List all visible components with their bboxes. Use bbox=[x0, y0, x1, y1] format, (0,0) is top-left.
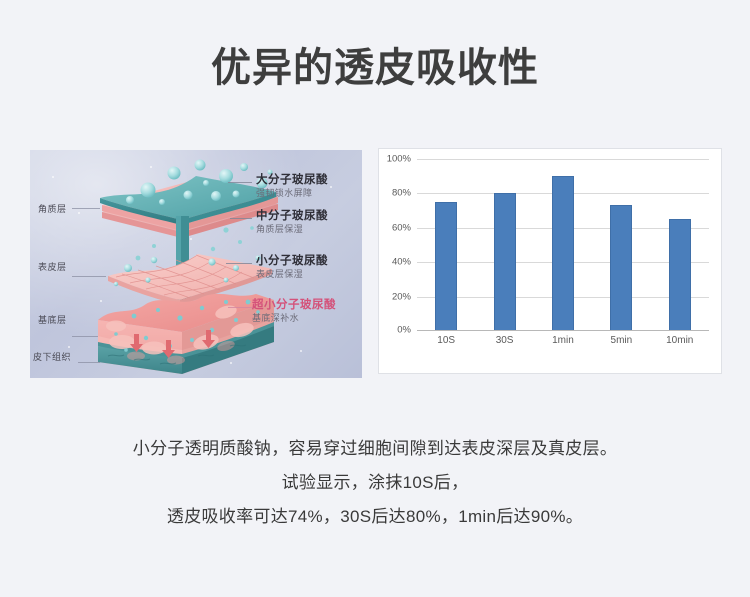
callout-ultra-small-molecule: 超小分子玻尿酸 基底深补水 bbox=[252, 298, 336, 325]
bar-30s[interactable] bbox=[494, 193, 516, 330]
y-axis-tick-label: 20% bbox=[392, 291, 411, 302]
layer-leader-line bbox=[72, 208, 100, 209]
page-title: 优异的透皮吸收性 bbox=[0, 44, 750, 92]
callout-small-molecule: 小分子玻尿酸 表皮层保湿 bbox=[256, 254, 328, 281]
callout-subtitle: 角质层保湿 bbox=[256, 224, 328, 236]
y-axis-tick-label: 100% bbox=[387, 154, 411, 165]
y-axis-tick-label: 60% bbox=[392, 222, 411, 233]
bar-slot bbox=[651, 159, 709, 330]
skin-layer-illustration: 角质层 表皮层 基底层 皮下组织 大分子玻尿酸 强韧锁水屏障 中分子玻尿酸 角质… bbox=[30, 150, 362, 378]
x-axis-tick-label: 30S bbox=[475, 335, 533, 346]
y-axis-tick-label: 80% bbox=[392, 188, 411, 199]
callout-leader-line bbox=[230, 218, 252, 219]
bar-slot bbox=[592, 159, 650, 330]
layer-leader-line bbox=[78, 362, 100, 363]
layer-leader-line bbox=[72, 276, 106, 277]
layer-label-stratum-corneum: 角质层 bbox=[38, 202, 67, 215]
callout-leader-line bbox=[228, 307, 252, 308]
callout-leader-line bbox=[228, 182, 252, 183]
bar-series bbox=[417, 159, 709, 330]
callout-medium-molecule: 中分子玻尿酸 角质层保湿 bbox=[256, 209, 328, 236]
callout-leader-line bbox=[226, 263, 252, 264]
bar-10min[interactable] bbox=[669, 219, 691, 330]
description-line-1: 小分子透明质酸钠，容易穿过细胞间隙到达表皮深层及真皮层。 bbox=[0, 432, 750, 466]
layer-label-basal: 基底层 bbox=[38, 313, 67, 326]
callout-title: 超小分子玻尿酸 bbox=[252, 298, 336, 312]
x-axis-tick-label: 10min bbox=[651, 335, 709, 346]
absorption-rate-bar-chart: 100% 80% 60% 40% 20% 0% 10S 30S 1min 5mi… bbox=[378, 148, 722, 374]
description-line-3: 透皮吸收率可达74%，30S后达80%，1min后达90%。 bbox=[0, 500, 750, 534]
bar-slot bbox=[417, 159, 475, 330]
chart-plot-area: 100% 80% 60% 40% 20% 0% bbox=[417, 159, 709, 331]
x-axis-line: 0% bbox=[417, 330, 709, 331]
bar-slot bbox=[534, 159, 592, 330]
x-axis-tick-label: 1min bbox=[534, 335, 592, 346]
callout-title: 中分子玻尿酸 bbox=[256, 209, 328, 223]
callout-subtitle: 基底深补水 bbox=[252, 313, 336, 325]
bar-5min[interactable] bbox=[610, 205, 632, 330]
layer-label-epidermis: 表皮层 bbox=[38, 260, 67, 273]
bar-slot bbox=[475, 159, 533, 330]
bar-1min[interactable] bbox=[552, 176, 574, 330]
callout-title: 小分子玻尿酸 bbox=[256, 254, 328, 268]
callout-large-molecule: 大分子玻尿酸 强韧锁水屏障 bbox=[256, 173, 328, 200]
bar-10s[interactable] bbox=[435, 202, 457, 330]
y-axis-tick-label: 40% bbox=[392, 257, 411, 268]
x-axis-tick-label: 10S bbox=[417, 335, 475, 346]
x-axis-tick-label: 5min bbox=[592, 335, 650, 346]
callout-subtitle: 表皮层保湿 bbox=[256, 269, 328, 281]
description-paragraph: 小分子透明质酸钠，容易穿过细胞间隙到达表皮深层及真皮层。 试验显示，涂抹10S后… bbox=[0, 432, 750, 534]
y-axis-tick-label: 0% bbox=[397, 325, 411, 336]
callout-title: 大分子玻尿酸 bbox=[256, 173, 328, 187]
callout-subtitle: 强韧锁水屏障 bbox=[256, 188, 328, 200]
x-axis-labels: 10S 30S 1min 5min 10min bbox=[417, 335, 709, 346]
description-line-2: 试验显示，涂抹10S后， bbox=[0, 466, 750, 500]
layer-leader-line bbox=[72, 336, 98, 337]
layer-label-subcutaneous: 皮下组织 bbox=[33, 350, 71, 363]
